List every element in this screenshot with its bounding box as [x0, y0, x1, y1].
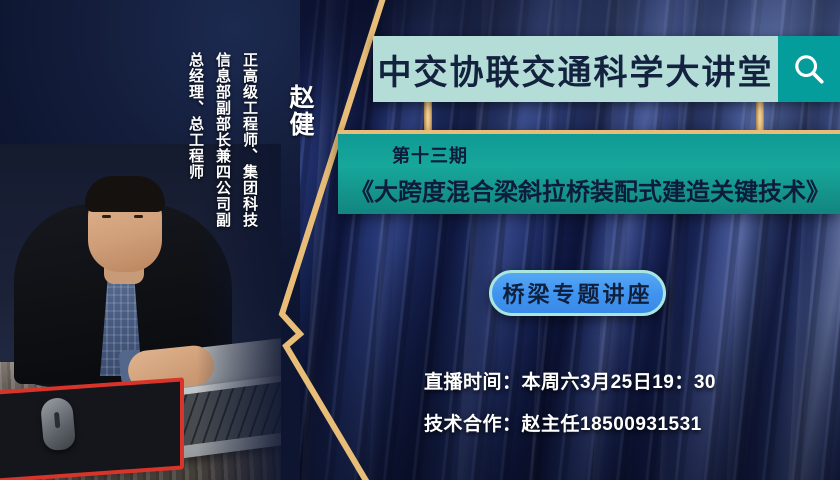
photo-eye-right: [134, 215, 143, 218]
contact-info: 技术合作：赵主任18500931531: [424, 409, 702, 436]
search-icon: [792, 52, 826, 86]
topic-badge-label: 桥梁专题讲座: [502, 277, 652, 309]
speaker-credential-line-1: 正高级工程师、集团科技: [242, 52, 257, 228]
computer-mouse: [40, 397, 76, 452]
speaker-credential-line-3: 总经理、总工程师: [188, 52, 203, 180]
photo-hair: [85, 176, 165, 212]
lecture-title: 《大跨度混合梁斜拉桥装配式建造关键技术》: [350, 172, 840, 207]
speaker-credential-line-2: 信息部副部长兼四公司副: [215, 52, 230, 228]
broadcast-time: 直播时间：本周六3月25日19：30: [424, 367, 716, 394]
header-title-container: 中交协联交通科学大讲堂: [373, 36, 778, 102]
speaker-name: 赵健: [288, 84, 318, 138]
webinar-poster: 中交协联交通科学大讲堂 第十三期 《大跨度混合梁斜拉桥装配式建造关键技术》 桥梁…: [0, 0, 840, 480]
episode-label: 第十三期: [392, 142, 840, 168]
page-title: 中交协联交通科学大讲堂: [378, 45, 774, 94]
speaker-photo: [0, 144, 281, 480]
photo-eye-left: [102, 215, 111, 218]
mouse-pad: [0, 377, 184, 480]
title-banner: 第十三期 《大跨度混合梁斜拉桥装配式建造关键技术》: [338, 130, 840, 214]
header-bar: 中交协联交通科学大讲堂: [373, 36, 840, 102]
search-button[interactable]: [778, 36, 840, 102]
topic-badge[interactable]: 桥梁专题讲座: [489, 270, 666, 316]
